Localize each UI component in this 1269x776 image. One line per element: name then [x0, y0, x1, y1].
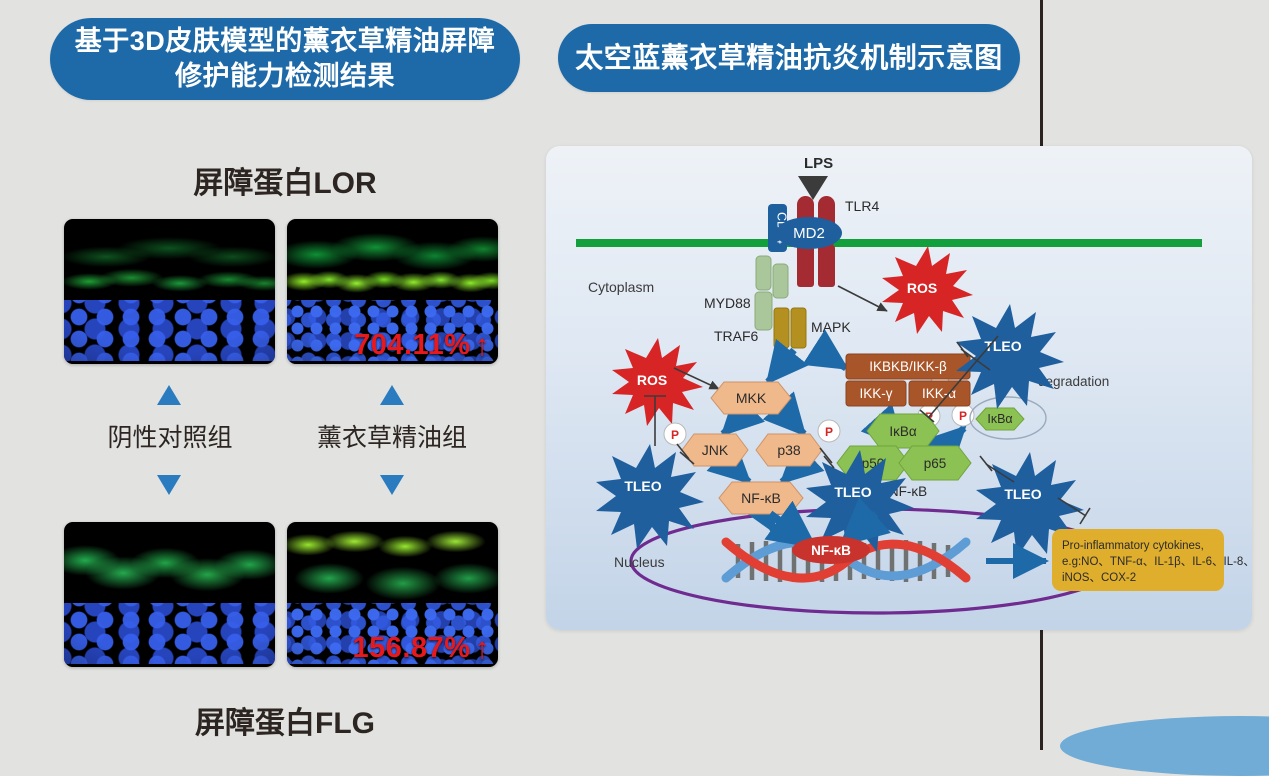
ikk-gamma-label: IKK-γ: [859, 386, 892, 401]
degraded-ikba-node: IκBα: [970, 397, 1046, 439]
ros-label: ROS: [637, 372, 667, 388]
svg-text:P: P: [671, 428, 679, 442]
arrow-down-icon-treated: [380, 475, 404, 495]
p38-node: p38: [756, 434, 822, 466]
group-label-treated: 薰衣草精油组: [277, 418, 507, 454]
ikk-complex: IKBKB/IKK-β IKK-γ IKK-α: [846, 354, 970, 406]
nfkb-label: NF-κB: [741, 490, 781, 506]
tlr4-label: TLR4: [845, 198, 879, 214]
nucleus-label: Nucleus: [614, 554, 665, 570]
ikba-degraded-label: IκBα: [987, 412, 1012, 426]
result-number-flg: 156.87%: [353, 632, 471, 665]
tleo-label: TLEO: [1004, 486, 1041, 502]
mkk-label: MKK: [736, 390, 767, 406]
cell-membrane: [576, 239, 1202, 247]
cytokine-line-2: e.g:NO、TNF-α、IL-1β、IL-6、IL-8、: [1062, 556, 1252, 568]
mkk-node: MKK: [711, 382, 791, 414]
micrograph-lor-control: [64, 219, 275, 364]
result-number-lor: 704.11%: [354, 329, 470, 362]
tleo-label: TLEO: [624, 478, 661, 494]
traf6-label: TRAF6: [714, 328, 759, 344]
arrow-up-icon-treated: [380, 385, 404, 405]
tleo-node-left: TLEO: [596, 444, 704, 549]
right-section-title: 太空蓝薰衣草精油抗炎机制示意图: [558, 24, 1020, 92]
md2-label: MD2: [793, 225, 825, 242]
svg-text:P: P: [959, 409, 967, 423]
mapk-label: MAPK: [811, 319, 851, 335]
vignette: [64, 219, 275, 364]
up-arrow-icon: ↑: [475, 331, 491, 361]
md2-node: MD2: [776, 217, 842, 249]
left-section-title: 基于3D皮肤模型的薰衣草精油屏障修护能力检测结果: [50, 18, 520, 100]
nfkb-mapk-node: NF-κB: [719, 482, 803, 514]
pathway-diagram-panel: Nucleus LPS: [546, 146, 1252, 630]
ikk-alpha-label: IKK-α: [922, 386, 956, 401]
micrograph-lor-treated: 704.11% ↑: [287, 219, 498, 364]
nfkb-nucleus-label: NF-κB: [811, 543, 851, 558]
arrow-up-icon-control: [157, 385, 181, 405]
p65-label: p65: [924, 456, 947, 471]
cytoplasm-label: Cytoplasm: [588, 279, 654, 295]
group-label-control: 阴性对照组: [55, 418, 285, 454]
result-value-flg: 156.87% ↑: [353, 632, 491, 665]
vignette: [64, 522, 275, 667]
lps-label: LPS: [804, 155, 833, 172]
ikbkb-label: IKBKB/IKK-β: [869, 359, 947, 374]
up-arrow-icon: ↑: [475, 634, 491, 664]
ros-node-top: ROS: [882, 246, 973, 334]
myd88-label: MYD88: [704, 295, 751, 311]
micrograph-flg-control: [64, 522, 275, 667]
lps-triangle-icon: [798, 176, 828, 200]
ikba-label: IκBα: [889, 424, 917, 439]
arrow-down-icon-control: [157, 475, 181, 495]
poster-canvas: 基于3D皮肤模型的薰衣草精油屏障修护能力检测结果 太空蓝薰衣草精油抗炎机制示意图…: [0, 0, 1269, 750]
tleo-label: TLEO: [834, 484, 871, 500]
nfkb-nucleus-node: NF-κB: [792, 536, 870, 564]
ros-label: ROS: [907, 280, 937, 296]
svg-text:P: P: [825, 425, 833, 439]
cytokine-box: Pro-inflammatory cytokines, e.g:NO、TNF-α…: [1052, 529, 1252, 591]
traf6-mapk-node: [774, 308, 806, 348]
p38-label: p38: [777, 442, 801, 458]
decorative-wave: [1060, 716, 1269, 776]
lor-heading: 屏障蛋白LOR: [50, 158, 520, 202]
cytokine-line-1: Pro-inflammatory cytokines,: [1062, 540, 1204, 552]
cytokine-line-3: iNOS、COX-2: [1062, 572, 1136, 584]
micrograph-flg-treated: 156.87% ↑: [287, 522, 498, 667]
flg-heading: 屏障蛋白FLG: [50, 698, 520, 742]
ros-node-left: ROS: [612, 338, 703, 426]
result-value-lor: 704.11% ↑: [354, 329, 490, 362]
jnk-label: JNK: [702, 442, 729, 458]
